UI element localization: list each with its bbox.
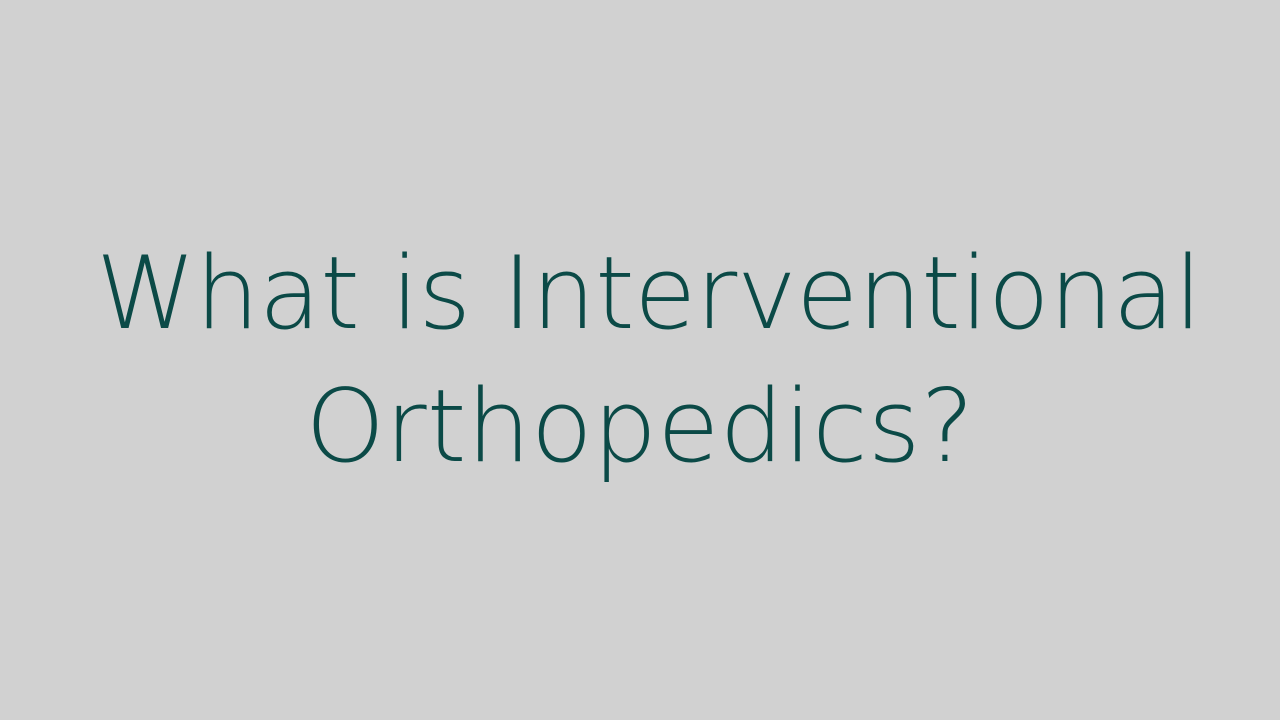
title-line-2: Orthopedics?	[96, 360, 1184, 493]
slide-canvas: What is Interventional Orthopedics?	[0, 0, 1280, 720]
page-title: What is Interventional Orthopedics?	[80, 227, 1200, 493]
title-line-1: What is Interventional	[96, 227, 1184, 360]
